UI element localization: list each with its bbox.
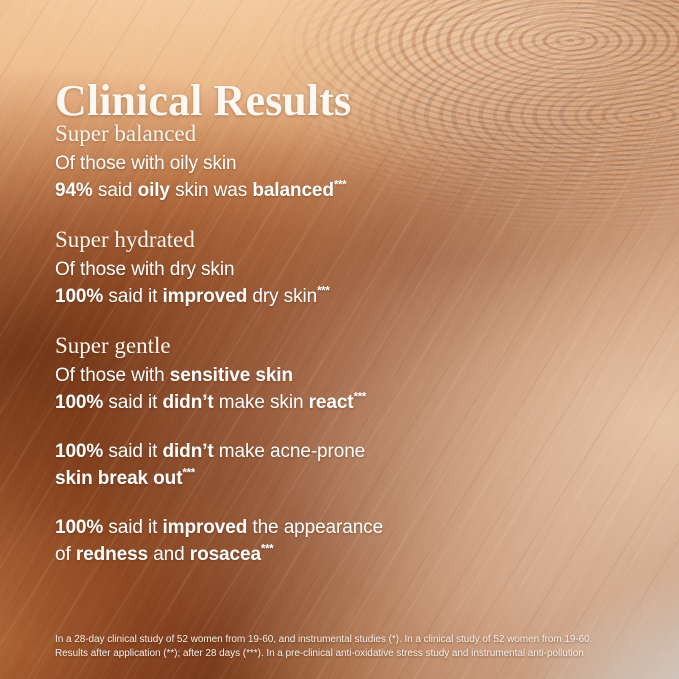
plain-text: Of those with dry skin xyxy=(55,259,234,280)
plain-text: make skin xyxy=(214,392,309,413)
footnote-line-1: In a 28-day clinical study of 52 women f… xyxy=(55,633,657,647)
footnote-marker: *** xyxy=(354,391,366,404)
result-heading: Super hydrated xyxy=(55,226,659,254)
emphasis-text: improved xyxy=(163,517,248,538)
emphasis-text: 100% xyxy=(55,392,103,413)
emphasis-text: improved xyxy=(163,286,248,307)
result-line: 100% said it improved dry skin*** xyxy=(55,283,659,310)
footnote: In a 28-day clinical study of 52 women f… xyxy=(55,633,657,661)
footnote-line-2: Results after application (**); after 28… xyxy=(55,647,657,661)
plain-text: make acne-prone xyxy=(214,441,366,462)
result-line: 100% said it didn’t make skin react*** xyxy=(55,389,659,416)
result-line: 100% said it didn’t make acne-prone xyxy=(55,438,659,465)
plain-text: said it xyxy=(103,441,162,462)
content-layer: Clinical Results Super balancedOf those … xyxy=(0,0,679,679)
result-line: skin break out*** xyxy=(55,465,659,492)
plain-text: said it xyxy=(103,286,162,307)
plain-text: said it xyxy=(103,517,162,538)
plain-text: and xyxy=(148,544,190,565)
emphasis-text: 94% xyxy=(55,180,93,201)
footnote-marker: *** xyxy=(182,467,194,480)
emphasis-text: sensitive skin xyxy=(170,365,293,386)
result-line: 100% said it improved the appearance xyxy=(55,514,659,541)
plain-text: dry skin xyxy=(247,286,317,307)
result-line: Of those with dry skin xyxy=(55,256,659,283)
result-line: Of those with oily skin xyxy=(55,150,659,177)
emphasis-text: didn’t xyxy=(163,441,214,462)
footnote-marker: *** xyxy=(317,285,329,298)
emphasis-text: 100% xyxy=(55,441,103,462)
result-block: Super hydratedOf those with dry skin100%… xyxy=(55,226,659,310)
emphasis-text: react xyxy=(309,392,354,413)
emphasis-text: balanced xyxy=(252,180,334,201)
result-line: Of those with sensitive skin xyxy=(55,362,659,389)
emphasis-text: 100% xyxy=(55,286,103,307)
page-title: Clinical Results xyxy=(55,79,351,123)
plain-text: said xyxy=(93,180,138,201)
footnote-marker: *** xyxy=(334,179,346,192)
emphasis-text: skin break out xyxy=(55,468,182,489)
footnote-marker: *** xyxy=(261,543,273,556)
emphasis-text: oily xyxy=(138,180,170,201)
results-list: Super balancedOf those with oily skin94%… xyxy=(55,120,659,568)
result-block: 100% said it improved the appearanceof r… xyxy=(55,514,659,568)
plain-text: said it xyxy=(103,392,162,413)
result-block: 100% said it didn’t make acne-proneskin … xyxy=(55,438,659,492)
plain-text: the appearance xyxy=(247,517,383,538)
plain-text: Of those with oily skin xyxy=(55,153,236,174)
clinical-results-card: Clinical Results Super balancedOf those … xyxy=(0,0,679,679)
emphasis-text: rosacea xyxy=(190,544,261,565)
result-line: of redness and rosacea*** xyxy=(55,541,659,568)
emphasis-text: redness xyxy=(76,544,148,565)
result-block: Super balancedOf those with oily skin94%… xyxy=(55,120,659,204)
result-heading: Super gentle xyxy=(55,332,659,360)
emphasis-text: didn’t xyxy=(163,392,214,413)
emphasis-text: 100% xyxy=(55,517,103,538)
result-block: Super gentleOf those with sensitive skin… xyxy=(55,332,659,416)
result-heading: Super balanced xyxy=(55,120,659,148)
result-line: 94% said oily skin was balanced*** xyxy=(55,177,659,204)
plain-text: of xyxy=(55,544,76,565)
plain-text: skin was xyxy=(170,180,252,201)
plain-text: Of those with xyxy=(55,365,170,386)
